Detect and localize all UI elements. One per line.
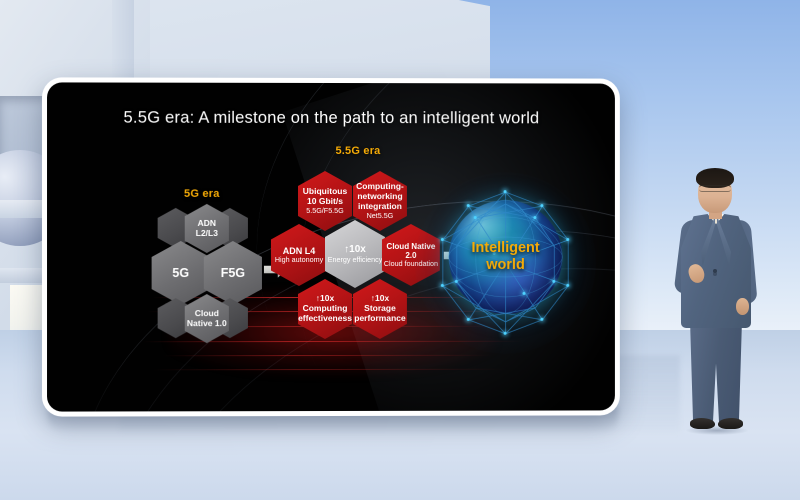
intelligent-world-globe: Intelligent world bbox=[431, 188, 580, 338]
hex-5g-5g-label: 5G bbox=[172, 266, 189, 280]
hex-5g-adn-line2: L2/L3 bbox=[196, 228, 218, 238]
outcome-line2: world bbox=[431, 257, 580, 274]
presenter-trousers bbox=[690, 320, 742, 424]
presenter-jacket-button bbox=[713, 269, 717, 273]
presenter-hand-right bbox=[736, 298, 749, 315]
hex-5g-f5g-label: F5G bbox=[221, 266, 245, 280]
hex-5g-cloud-line2: Native 1.0 bbox=[187, 319, 227, 329]
glasses-icon bbox=[699, 185, 731, 192]
presenter-shoe-right bbox=[718, 418, 743, 429]
outcome-line1: Intelligent bbox=[431, 240, 580, 257]
presenter bbox=[668, 168, 764, 450]
outcome-label: Intelligent world bbox=[431, 240, 580, 274]
hex-compnet-line4: Net5.5G bbox=[367, 212, 394, 220]
hex-storage-line3: performance bbox=[354, 314, 405, 324]
hex-ubiquitous-line3: 5.5G/F5.5G bbox=[306, 207, 344, 215]
slide-screen: 5.5G era: A milestone on the path to an … bbox=[47, 82, 615, 411]
era-55g-label: 5.5G era bbox=[293, 145, 423, 157]
presentation-display: 5.5G era: A milestone on the path to an … bbox=[42, 77, 620, 416]
slide-title: 5.5G era: A milestone on the path to an … bbox=[47, 108, 615, 128]
hex-energy-line1: ↑10x bbox=[344, 244, 366, 255]
hex-energy-line2: Energy efficiency bbox=[328, 256, 383, 264]
studio-stage: 5.5G era: A milestone on the path to an … bbox=[0, 0, 800, 500]
hex-compeff-line3: effectiveness bbox=[298, 314, 352, 324]
presenter-shoe-left bbox=[690, 418, 715, 429]
hex-adnl4-line2: High autonomy bbox=[275, 256, 323, 264]
era-5g-label: 5G era bbox=[152, 188, 252, 200]
